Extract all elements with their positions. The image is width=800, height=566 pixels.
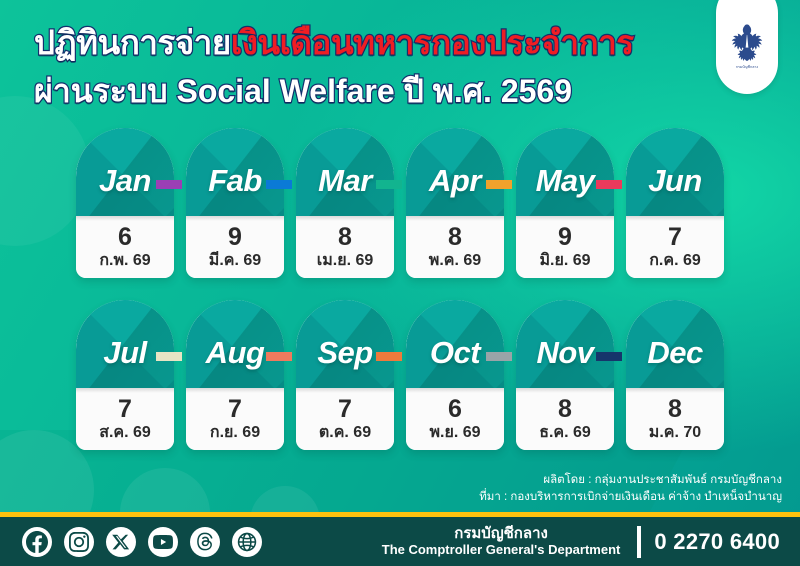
pay-thai-month: มิ.ย. 69 bbox=[539, 251, 590, 270]
month-label: Jan bbox=[76, 128, 174, 220]
youtube-icon[interactable] bbox=[148, 527, 178, 557]
threads-icon[interactable] bbox=[190, 527, 220, 557]
month-cell-dec[interactable]: Dec 8 ม.ค. 70 bbox=[620, 300, 730, 450]
credits-line-1: ผลิตโดย : กลุ่มงานประชาสัมพันธ์ กรมบัญชี… bbox=[479, 472, 782, 489]
credits-block: ผลิตโดย : กลุ่มงานประชาสัมพันธ์ กรมบัญชี… bbox=[479, 472, 782, 506]
card-body: 7 ส.ค. 69 bbox=[76, 388, 174, 450]
pay-thai-month: เม.ย. 69 bbox=[317, 251, 374, 270]
pay-thai-month: ก.พ. 69 bbox=[99, 251, 150, 270]
calendar-grid: Jan 6 ก.พ. 69 Fab 9 มี.ค. 69 bbox=[0, 128, 800, 472]
connector-bar bbox=[596, 180, 622, 189]
month-card: Sep 7 ต.ค. 69 bbox=[296, 300, 394, 450]
month-card: Jul 7 ส.ค. 69 bbox=[76, 300, 174, 450]
pay-day-number: 7 bbox=[668, 225, 682, 250]
instagram-icon[interactable] bbox=[64, 527, 94, 557]
connector-bar bbox=[156, 180, 182, 189]
x-twitter-icon[interactable] bbox=[106, 527, 136, 557]
month-card: Oct 6 พ.ย. 69 bbox=[406, 300, 504, 450]
month-label: Jul bbox=[76, 300, 174, 392]
pay-thai-month: ส.ค. 69 bbox=[99, 423, 151, 442]
month-card: Dec 8 ม.ค. 70 bbox=[626, 300, 724, 450]
credits-line-2: ที่มา : กองบริหารการเบิกจ่ายเงินเดือน ค่… bbox=[479, 489, 782, 506]
pay-thai-month: ต.ค. 69 bbox=[319, 423, 371, 442]
pay-day-number: 6 bbox=[118, 225, 132, 250]
card-body: 6 พ.ย. 69 bbox=[406, 388, 504, 450]
department-name-thai: กรมบัญชีกลาง bbox=[382, 526, 621, 542]
month-card: Nov 8 ธ.ค. 69 bbox=[516, 300, 614, 450]
card-body: 6 ก.พ. 69 bbox=[76, 216, 174, 278]
contact-phone[interactable]: 0 2270 6400 bbox=[654, 529, 780, 555]
month-card: Jun 7 ก.ค. 69 bbox=[626, 128, 724, 278]
month-cell-jan[interactable]: Jan 6 ก.พ. 69 bbox=[70, 128, 180, 278]
pay-day-number: 7 bbox=[228, 397, 242, 422]
month-label: Aug bbox=[186, 300, 284, 392]
pay-day-number: 7 bbox=[118, 397, 132, 422]
connector-bar bbox=[596, 352, 622, 361]
header: ปฏิทินการจ่ายเงินเดือนทหารกองประจำการ ผ่… bbox=[0, 0, 800, 120]
month-cell-jul[interactable]: Jul 7 ส.ค. 69 bbox=[70, 300, 180, 450]
pay-thai-month: พ.ค. 69 bbox=[429, 251, 481, 270]
pay-day-number: 8 bbox=[338, 225, 352, 250]
card-body: 9 มิ.ย. 69 bbox=[516, 216, 614, 278]
connector-bar bbox=[156, 352, 182, 361]
pay-day-number: 8 bbox=[668, 397, 682, 422]
card-body: 9 มี.ค. 69 bbox=[186, 216, 284, 278]
connector-bar bbox=[486, 352, 512, 361]
pay-thai-month: ก.ค. 69 bbox=[649, 251, 701, 270]
department-name-english: The Comptroller General's Department bbox=[382, 542, 621, 558]
month-label: Mar bbox=[296, 128, 394, 220]
month-label: Dec bbox=[626, 300, 724, 392]
calendar-row-1: Jan 6 ก.พ. 69 Fab 9 มี.ค. 69 bbox=[0, 128, 800, 300]
month-card: Mar 8 เม.ย. 69 bbox=[296, 128, 394, 278]
pay-thai-month: ม.ค. 70 bbox=[649, 423, 701, 442]
calendar-row-2: Jul 7 ส.ค. 69 Aug 7 ก.ย. 69 bbox=[0, 300, 800, 472]
website-globe-icon[interactable] bbox=[232, 527, 262, 557]
month-label: Sep bbox=[296, 300, 394, 392]
pay-day-number: 8 bbox=[558, 397, 572, 422]
card-body: 7 ต.ค. 69 bbox=[296, 388, 394, 450]
footer-bar: กรมบัญชีกลาง The Comptroller General's D… bbox=[0, 512, 800, 566]
connector-bar bbox=[376, 352, 402, 361]
card-body: 8 เม.ย. 69 bbox=[296, 216, 394, 278]
month-label: Oct bbox=[406, 300, 504, 392]
card-body: 7 ก.ย. 69 bbox=[186, 388, 284, 450]
month-cell-may[interactable]: May 9 มิ.ย. 69 bbox=[510, 128, 620, 278]
month-label: May bbox=[516, 128, 614, 220]
month-card: Jan 6 ก.พ. 69 bbox=[76, 128, 174, 278]
month-card: Fab 9 มี.ค. 69 bbox=[186, 128, 284, 278]
pay-thai-month: พ.ย. 69 bbox=[429, 423, 480, 442]
connector-bar bbox=[376, 180, 402, 189]
card-body: 8 พ.ค. 69 bbox=[406, 216, 504, 278]
month-label: Nov bbox=[516, 300, 614, 392]
month-cell-sep[interactable]: Sep 7 ต.ค. 69 bbox=[290, 300, 400, 450]
pay-day-number: 9 bbox=[228, 225, 242, 250]
month-label: Fab bbox=[186, 128, 284, 220]
month-card: Aug 7 ก.ย. 69 bbox=[186, 300, 284, 450]
garuda-emblem-icon: กรมบัญชีกลาง bbox=[725, 19, 769, 71]
month-cell-nov[interactable]: Nov 8 ธ.ค. 69 bbox=[510, 300, 620, 450]
month-cell-aug[interactable]: Aug 7 ก.ย. 69 bbox=[180, 300, 290, 450]
pay-thai-month: ก.ย. 69 bbox=[210, 423, 260, 442]
month-cell-fab[interactable]: Fab 9 มี.ค. 69 bbox=[180, 128, 290, 278]
month-cell-jun[interactable]: Jun 7 ก.ค. 69 bbox=[620, 128, 730, 278]
title-white-part: ปฏิทินการจ่าย bbox=[34, 24, 231, 61]
page-title: ปฏิทินการจ่ายเงินเดือนทหารกองประจำการ ผ่… bbox=[34, 22, 724, 112]
card-body: 8 ม.ค. 70 bbox=[626, 388, 724, 450]
title-red-part: เงินเดือนทหารกองประจำการ bbox=[231, 24, 634, 61]
month-card: Apr 8 พ.ค. 69 bbox=[406, 128, 504, 278]
garuda-emblem-badge: กรมบัญชีกลาง bbox=[716, 0, 778, 94]
pay-day-number: 7 bbox=[338, 397, 352, 422]
month-card: May 9 มิ.ย. 69 bbox=[516, 128, 614, 278]
connector-bar bbox=[486, 180, 512, 189]
title-line-2: ผ่านระบบ Social Welfare ปี พ.ศ. 2569 bbox=[34, 70, 724, 112]
pay-thai-month: ธ.ค. 69 bbox=[539, 423, 591, 442]
month-label: Apr bbox=[406, 128, 504, 220]
connector-bar bbox=[266, 352, 292, 361]
month-cell-apr[interactable]: Apr 8 พ.ค. 69 bbox=[400, 128, 510, 278]
card-body: 7 ก.ค. 69 bbox=[626, 216, 724, 278]
pay-day-number: 6 bbox=[448, 397, 462, 422]
connector-bar bbox=[266, 180, 292, 189]
month-cell-oct[interactable]: Oct 6 พ.ย. 69 bbox=[400, 300, 510, 450]
pay-day-number: 8 bbox=[448, 225, 462, 250]
pay-day-number: 9 bbox=[558, 225, 572, 250]
card-body: 8 ธ.ค. 69 bbox=[516, 388, 614, 450]
social-links bbox=[22, 527, 262, 557]
month-cell-mar[interactable]: Mar 8 เม.ย. 69 bbox=[290, 128, 400, 278]
garuda-caption: กรมบัญชีกลาง bbox=[736, 64, 759, 69]
facebook-icon[interactable] bbox=[22, 527, 52, 557]
pay-thai-month: มี.ค. 69 bbox=[209, 251, 261, 270]
department-name: กรมบัญชีกลาง The Comptroller General's D… bbox=[382, 526, 625, 558]
footer-divider bbox=[637, 526, 641, 558]
month-label: Jun bbox=[626, 128, 724, 220]
title-line-1: ปฏิทินการจ่ายเงินเดือนทหารกองประจำการ bbox=[34, 22, 724, 64]
